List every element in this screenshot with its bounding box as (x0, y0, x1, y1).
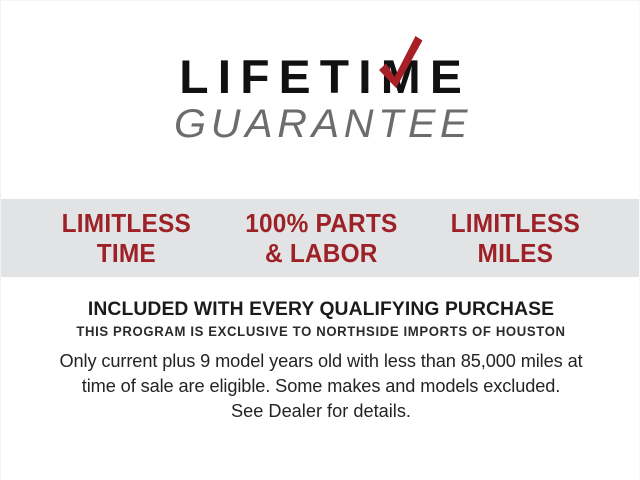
logo-lockup: LIFETIME GUARANTEE (1, 53, 640, 145)
exclusive-subhead: THIS PROGRAM IS EXCLUSIVE TO NORTHSIDE I… (7, 324, 634, 339)
logo-wordmark: LIFETIME GUARANTEE (173, 53, 468, 145)
logo-guarantee-text: GUARANTEE (169, 103, 473, 145)
disclaimer-text: Only current plus 9 model years old with… (29, 349, 613, 424)
benefits-band: LIMITLESS TIME 100% PARTS & LABOR LIMITL… (1, 199, 640, 277)
disclaimer-line-2: time of sale are eligible. Some makes an… (29, 374, 613, 399)
lifetime-guarantee-poster: LIFETIME GUARANTEE LIMITLESS TIME 100% P… (0, 0, 640, 480)
benefit-column-limitless-miles: LIMITLESS MILES (424, 208, 607, 269)
benefit-line-1: LIMITLESS (424, 208, 607, 238)
logo-lifetime-text: LIFETIME (171, 53, 472, 100)
benefit-line-2: MILES (424, 238, 607, 268)
benefit-line-1: 100% PARTS (230, 208, 413, 238)
benefit-line-2: TIME (35, 238, 218, 268)
disclaimer-line-1: Only current plus 9 model years old with… (29, 349, 613, 374)
benefit-column-limitless-time: LIMITLESS TIME (35, 208, 218, 269)
disclaimer-line-3: See Dealer for details. (29, 399, 613, 424)
benefit-line-2: & LABOR (230, 238, 413, 268)
included-headline: INCLUDED WITH EVERY QUALIFYING PURCHASE (4, 298, 638, 321)
benefit-column-parts-labor: 100% PARTS & LABOR (230, 208, 413, 269)
benefit-line-1: LIMITLESS (35, 208, 218, 238)
